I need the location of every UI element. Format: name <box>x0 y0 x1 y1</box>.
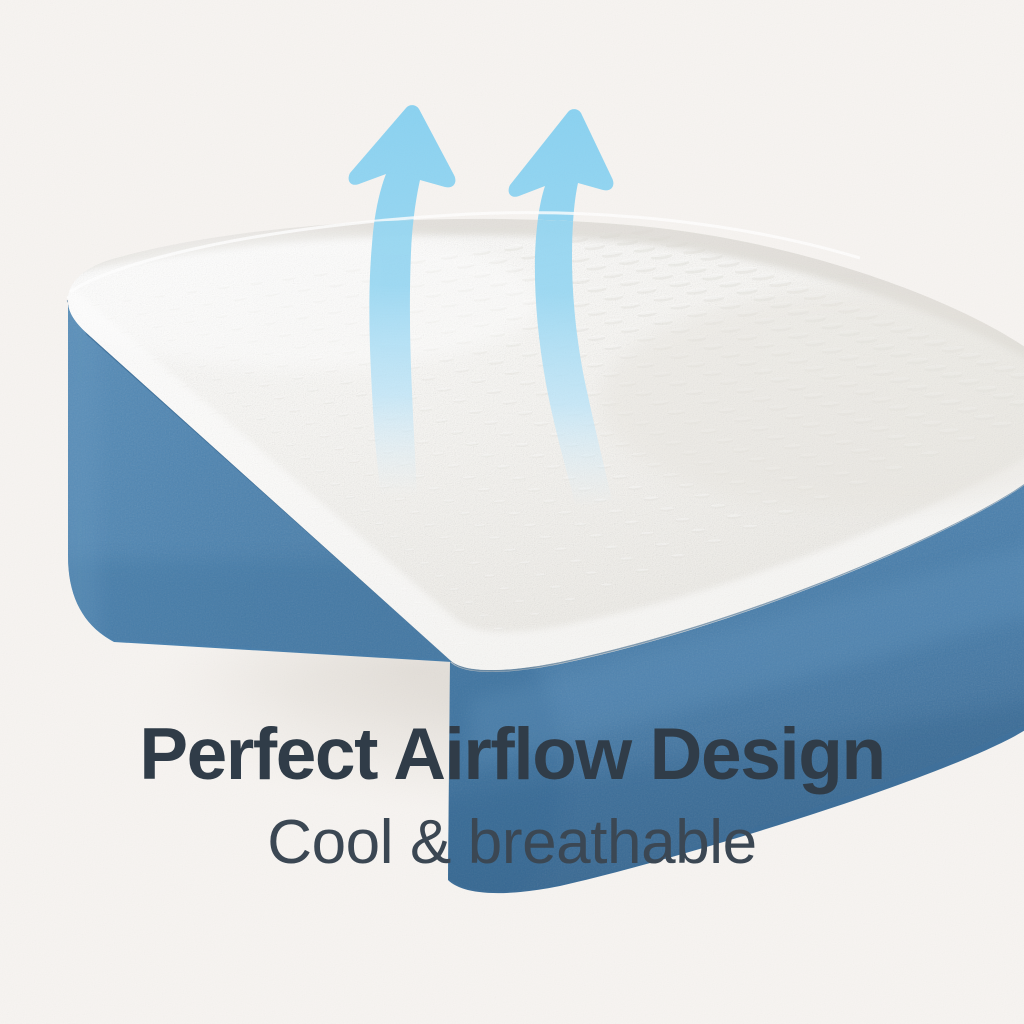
caption-block: Perfect Airflow Design Cool & breathable <box>0 718 1024 876</box>
marketing-graphic-canvas: Perfect Airflow Design Cool & breathable <box>0 0 1024 1024</box>
headline: Perfect Airflow Design <box>0 718 1024 792</box>
subheadline: Cool & breathable <box>0 810 1024 875</box>
